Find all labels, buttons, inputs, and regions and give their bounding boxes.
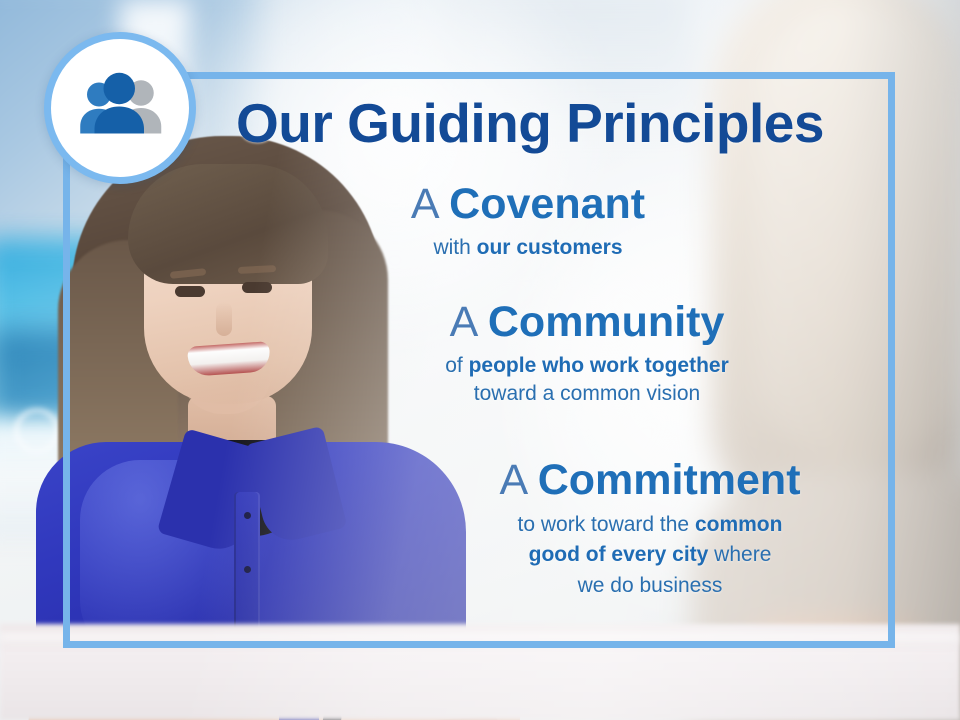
subtext-run: where <box>708 543 771 566</box>
subtext-emphasis: people who work together <box>469 354 729 377</box>
principle-community-subtext: of people who work togethertoward a comm… <box>372 352 802 409</box>
text-content: Our Guiding Principles A Covenant with o… <box>0 0 960 720</box>
community-keyword: Community <box>488 298 725 346</box>
subtext-emphasis: good of every city <box>529 543 709 566</box>
principle-community: A Community of people who work togethert… <box>372 300 802 408</box>
covenant-keyword: Covenant <box>449 180 645 228</box>
subtext-line: to work toward the common <box>420 510 880 540</box>
principle-covenant: A Covenant with our customers <box>318 182 738 262</box>
subtext-run: of <box>445 354 468 377</box>
principle-covenant-subtext: with our customers <box>318 234 738 262</box>
subtext-emphasis: our customers <box>477 236 623 259</box>
commitment-keyword: Commitment <box>538 456 801 504</box>
subtext-line: good of every city where <box>420 540 880 570</box>
principle-covenant-heading: A Covenant <box>318 182 738 227</box>
commitment-article: A <box>499 456 525 504</box>
page-title: Our Guiding Principles <box>200 96 860 151</box>
subtext-run: toward a common vision <box>474 382 700 405</box>
subtext-line: toward a common vision <box>372 380 802 408</box>
subtext-run: with <box>433 236 476 259</box>
subtext-emphasis: common <box>695 513 783 536</box>
subtext-line: of people who work together <box>372 352 802 380</box>
subtext-run: to work toward the <box>518 513 695 536</box>
subtext-line: we do business <box>420 571 880 601</box>
community-article: A <box>450 298 476 346</box>
principle-commitment-subtext: to work toward the commongood of every c… <box>420 510 880 601</box>
principle-commitment: A Commitment to work toward the commongo… <box>420 458 880 601</box>
covenant-article: A <box>411 180 437 228</box>
subtext-line: with our customers <box>318 234 738 262</box>
subtext-run: we do business <box>578 574 723 597</box>
principle-community-heading: A Community <box>372 300 802 345</box>
guiding-principles-banner: FLOW FLOW AUTOMOTIVE <box>0 0 960 720</box>
principle-commitment-heading: A Commitment <box>420 458 880 503</box>
